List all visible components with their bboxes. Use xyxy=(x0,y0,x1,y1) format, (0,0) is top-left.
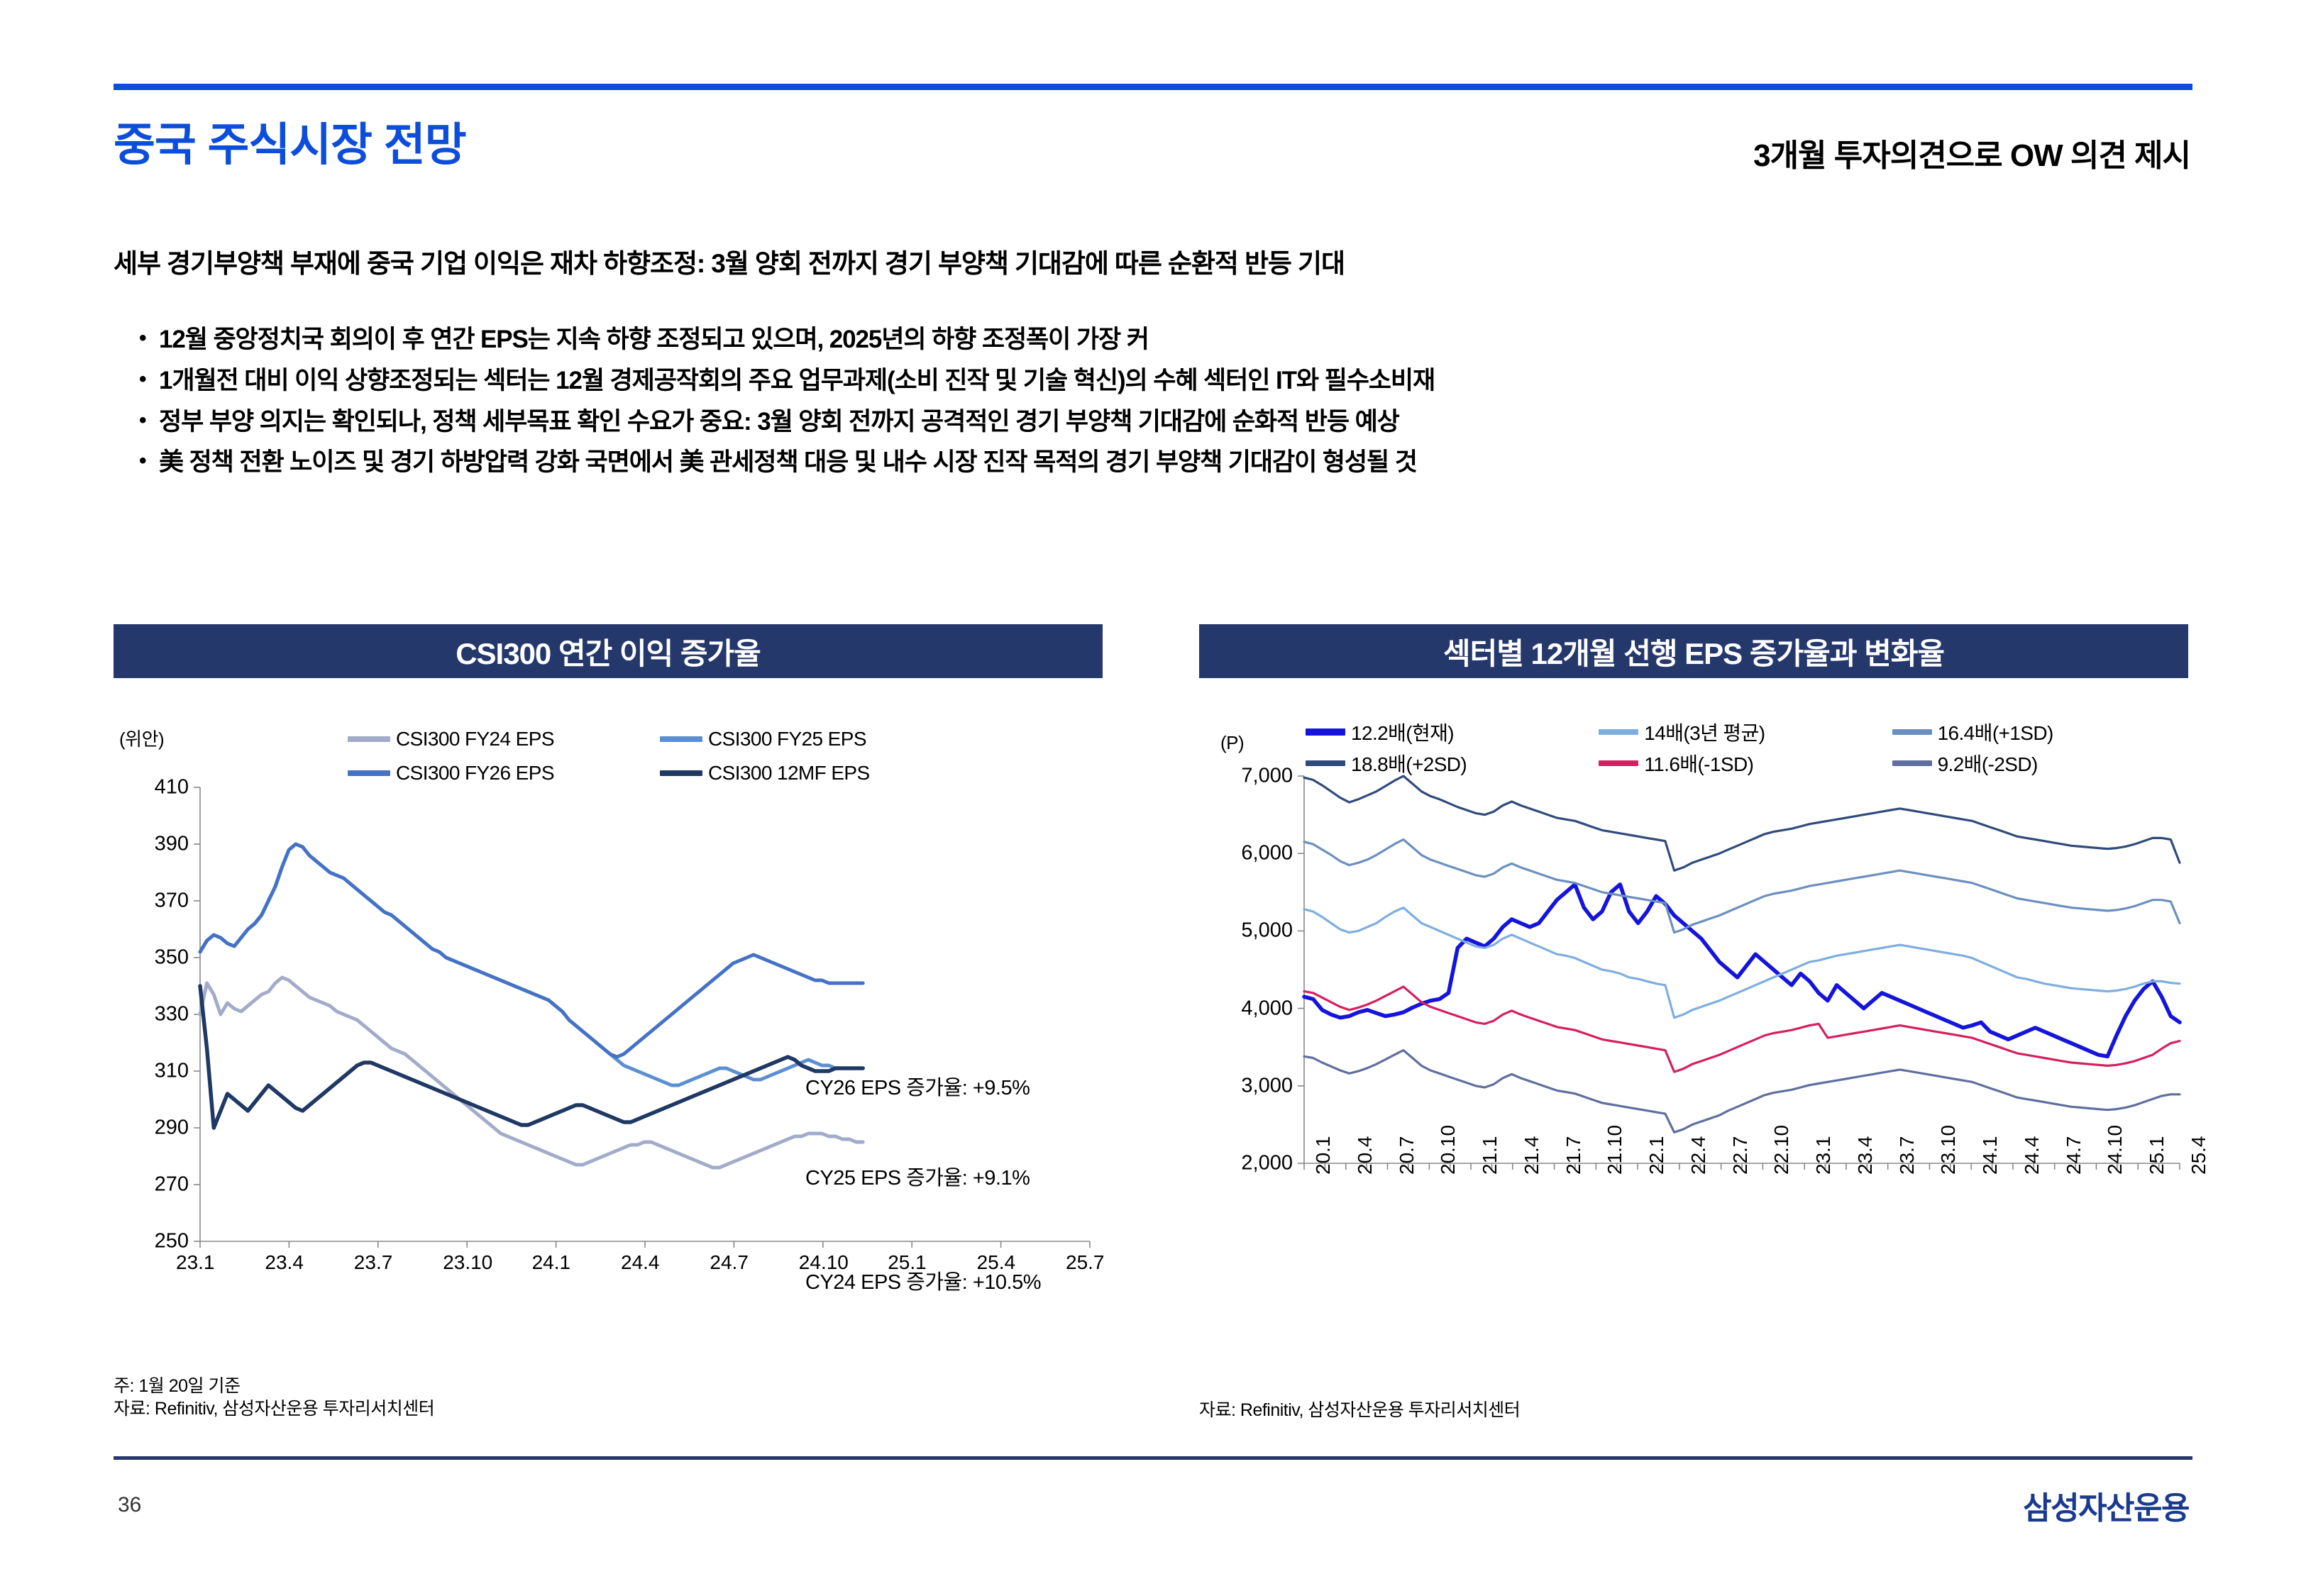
y-axis-tick-label: 390 xyxy=(155,833,189,856)
legend-swatch-current xyxy=(1306,728,1345,736)
legend-label: 16.4배(+1SD) xyxy=(1938,718,2053,746)
series-line xyxy=(200,977,863,1168)
list-item: • 정부 부양 의지는 확인되나, 정책 세부목표 확인 수요가 중요: 3월 … xyxy=(139,409,2197,436)
y-axis-tick-label: 2,000 xyxy=(1241,1152,1293,1175)
legend-item: 14배(3년 평균) xyxy=(1599,716,1892,748)
x-axis-tick-label: 21.1 xyxy=(1479,1136,1501,1175)
x-axis-tick-label: 24.4 xyxy=(621,1251,660,1274)
bullet-marker-icon: • xyxy=(139,409,159,433)
chart-note-left: 주: 1월 20일 기준 xyxy=(114,1375,434,1397)
x-axis-tick-label: 25.1 xyxy=(2146,1136,2168,1175)
x-axis-tick-label: 23.1 xyxy=(176,1251,215,1274)
x-axis-tick-label: 22.7 xyxy=(1729,1136,1752,1175)
chart-panel-left: CSI300 연간 이익 증가율 (위안) CSI300 FY24 EPS CS… xyxy=(114,624,1103,1416)
y-axis-tick-label: 370 xyxy=(155,890,189,913)
y-axis-tick-label: 4,000 xyxy=(1241,997,1293,1020)
chart-source-right: 자료: Refinitiv, 삼성자산운용 투자리서치센터 xyxy=(1199,1399,1520,1422)
legend-label: 14배(3년 평균) xyxy=(1644,718,1765,746)
x-axis-tick-label: 24.7 xyxy=(710,1251,749,1274)
chart-panel-right: 섹터별 12개월 선행 EPS 증가율과 변화율 (P) 12.2배(현재) 1… xyxy=(1199,624,2188,1416)
x-axis-tick-label: 23.10 xyxy=(443,1251,492,1274)
y-axis-tick-label: 310 xyxy=(155,1060,189,1083)
y-axis-tick-label: 330 xyxy=(155,1003,189,1026)
x-axis-tick-label: 24.1 xyxy=(532,1251,571,1274)
y-axis-tick-label: 3,000 xyxy=(1241,1074,1293,1097)
bullet-marker-icon: • xyxy=(139,326,159,351)
x-axis-tick-label: 22.4 xyxy=(1687,1136,1710,1175)
x-axis-tick-label: 23.7 xyxy=(1896,1136,1919,1175)
series-line xyxy=(200,844,863,1057)
header-rule xyxy=(114,84,2192,90)
series-line xyxy=(200,844,863,1085)
legend-item: CSI300 FY25 EPS xyxy=(660,722,972,756)
x-axis-tick-label: 25.4 xyxy=(2188,1136,2210,1175)
bullet-text: 1개월전 대비 이익 상향조정되는 섹터는 12월 경제공작회의 주요 업무과제… xyxy=(159,367,2197,394)
legend-swatch-fy24 xyxy=(348,736,390,742)
line-chart-left: 25027029031033035037039041023.123.423.72… xyxy=(114,775,1103,1307)
x-axis-tick-label: 24.7 xyxy=(2063,1136,2085,1175)
x-axis-tick-label: 23.4 xyxy=(265,1251,304,1274)
x-axis-tick-label: 21.4 xyxy=(1521,1136,1543,1175)
series-line xyxy=(1304,776,2180,870)
page-number: 36 xyxy=(118,1493,141,1517)
bullet-marker-icon: • xyxy=(139,367,159,392)
x-axis-tick-label: 24.4 xyxy=(2021,1136,2043,1175)
series-line xyxy=(1304,840,2180,933)
x-axis-tick-label: 24.1 xyxy=(1979,1136,2002,1175)
list-item: • 12월 중앙정치국 회의이 후 연간 EPS는 지속 하향 조정되고 있으며… xyxy=(139,326,2197,353)
chart-title-right: 섹터별 12개월 선행 EPS 증가율과 변화율 xyxy=(1199,624,2188,678)
chart-annotation: CY24 EPS 증가율: +10.5% xyxy=(805,1265,1041,1295)
chart-source-left: 자료: Refinitiv, 삼성자산운용 투자리서치센터 xyxy=(114,1397,434,1420)
legend-label: 12.2배(현재) xyxy=(1351,718,1454,746)
x-axis-tick-label: 23.4 xyxy=(1854,1136,1877,1175)
chart-svg xyxy=(114,775,1103,1307)
line-chart-right: 2,0003,0004,0005,0006,0007,00020.120.420… xyxy=(1199,766,2188,1312)
series-line xyxy=(1304,885,2180,1056)
legend-swatch-minus2sd xyxy=(1892,760,1932,766)
x-axis-tick-label: 22.1 xyxy=(1645,1136,1668,1175)
chart-annotation: CY25 EPS 증가율: +9.1% xyxy=(805,1161,1030,1191)
y-axis-tick-label: 250 xyxy=(155,1230,189,1253)
x-axis-tick-label: 20.7 xyxy=(1396,1136,1418,1175)
legend-item: CSI300 FY24 EPS xyxy=(348,722,660,756)
legend-item: 12.2배(현재) xyxy=(1306,716,1599,748)
y-axis-unit-right: (P) xyxy=(1220,732,1244,754)
x-axis-tick-label: 23.1 xyxy=(1812,1136,1835,1175)
chart-footnote-left: 주: 1월 20일 기준 자료: Refinitiv, 삼성자산운용 투자리서치… xyxy=(114,1375,434,1420)
bullet-text: 12월 중앙정치국 회의이 후 연간 EPS는 지속 하향 조정되고 있으며, … xyxy=(159,326,2197,353)
lead-statement: 세부 경기부양책 부재에 중국 기업 이익은 재차 하향조정: 3월 양회 전까… xyxy=(114,250,1345,277)
chart-annotation: CY26 EPS 증가율: +9.5% xyxy=(805,1071,1030,1101)
chart-footnote-right: 자료: Refinitiv, 삼성자산운용 투자리서치센터 xyxy=(1199,1399,1520,1422)
x-axis-tick-label: 20.10 xyxy=(1437,1125,1460,1175)
x-axis-tick-label: 23.10 xyxy=(1937,1125,1960,1175)
x-axis-tick-label: 21.7 xyxy=(1562,1136,1585,1175)
legend-label: CSI300 FY25 EPS xyxy=(708,728,866,750)
series-line xyxy=(200,986,863,1128)
legend-swatch-avg3y xyxy=(1599,729,1638,735)
y-axis-unit-left: (위안) xyxy=(119,725,164,751)
chart-title-left: CSI300 연간 이익 증가율 xyxy=(114,624,1103,678)
bullet-text: 정부 부양 의지는 확인되나, 정책 세부목표 확인 수요가 중요: 3월 양회… xyxy=(159,409,2197,436)
x-axis-tick-label: 25.7 xyxy=(1066,1251,1105,1274)
brand-logo: 삼성자산운용 xyxy=(2023,1483,2189,1528)
x-axis-tick-label: 20.4 xyxy=(1354,1136,1377,1175)
x-axis-tick-label: 20.1 xyxy=(1312,1136,1335,1175)
list-item: • 美 정책 전환 노이즈 및 경기 하방압력 강화 국면에서 美 관세정책 대… xyxy=(139,449,2197,476)
legend-item: 16.4배(+1SD) xyxy=(1892,716,2185,748)
x-axis-tick-label: 24.10 xyxy=(2104,1125,2126,1175)
legend-swatch-fy25 xyxy=(660,736,702,742)
bullet-text: 美 정책 전환 노이즈 및 경기 하방압력 강화 국면에서 美 관세정책 대응 … xyxy=(159,449,2197,476)
x-axis-tick-label: 21.10 xyxy=(1604,1125,1626,1175)
y-axis-tick-label: 270 xyxy=(155,1173,189,1197)
chart-svg xyxy=(1199,766,2188,1312)
legend-label: CSI300 FY24 EPS xyxy=(396,728,554,750)
x-axis-tick-label: 23.7 xyxy=(354,1251,393,1274)
series-line xyxy=(1304,1051,2180,1133)
legend-swatch-plus2sd xyxy=(1306,760,1345,766)
footer-rule xyxy=(114,1456,2192,1460)
header-subtitle: 3개월 투자의견으로 OW 의견 제시 xyxy=(1753,140,2190,172)
y-axis-tick-label: 6,000 xyxy=(1241,842,1293,865)
legend-swatch-plus1sd xyxy=(1892,729,1932,735)
y-axis-tick-label: 410 xyxy=(155,776,189,799)
bullet-marker-icon: • xyxy=(139,449,159,474)
y-axis-tick-label: 350 xyxy=(155,946,189,970)
slide-root: 중국 주식시장 전망 3개월 투자의견으로 OW 의견 제시 세부 경기부양책 … xyxy=(0,0,2306,1596)
x-axis-tick-label: 22.10 xyxy=(1770,1125,1793,1175)
y-axis-tick-label: 290 xyxy=(155,1116,189,1140)
y-axis-tick-label: 7,000 xyxy=(1241,765,1293,788)
y-axis-tick-label: 5,000 xyxy=(1241,919,1293,943)
page-title: 중국 주식시장 전망 xyxy=(114,122,466,167)
bullet-list: • 12월 중앙정치국 회의이 후 연간 EPS는 지속 하향 조정되고 있으며… xyxy=(139,326,2197,490)
list-item: • 1개월전 대비 이익 상향조정되는 섹터는 12월 경제공작회의 주요 업무… xyxy=(139,367,2197,394)
legend-swatch-minus1sd xyxy=(1599,760,1638,766)
